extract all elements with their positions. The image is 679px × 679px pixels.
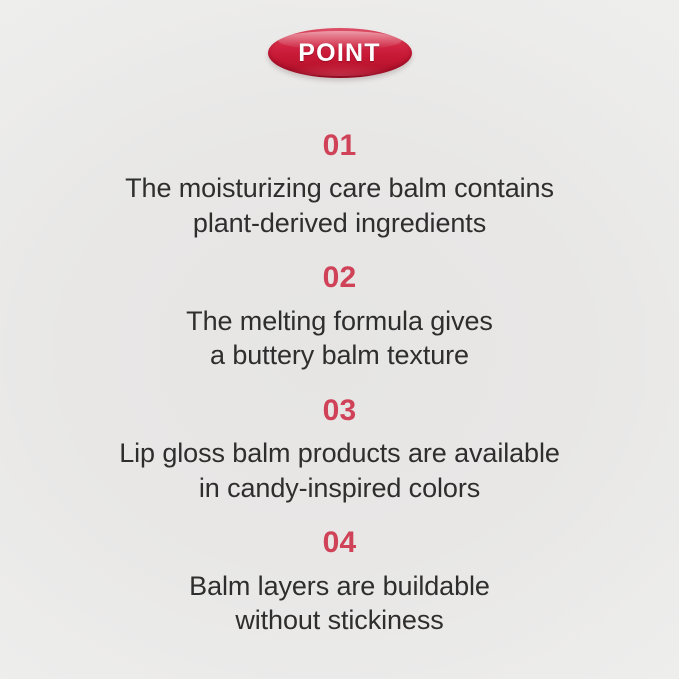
point-badge-container: POINT	[268, 27, 412, 79]
point-badge-label: POINT	[298, 41, 380, 66]
point-number-04: 04	[323, 527, 357, 559]
point-item-04: 04 Balm layers are buildable without sti…	[0, 527, 679, 637]
point-badge: POINT	[268, 28, 412, 78]
point-item-03: 03 Lip gloss balm products are available…	[0, 395, 679, 505]
point-text-02: The melting formula gives a buttery balm…	[186, 304, 493, 373]
point-number-02: 02	[323, 262, 357, 294]
point-text-line-1: Lip gloss balm products are available	[119, 436, 560, 471]
point-text-line-1: Balm layers are buildable	[189, 569, 490, 604]
point-text-line-2: a buttery balm texture	[186, 338, 493, 373]
point-text-line-2: in candy-inspired colors	[119, 471, 560, 506]
point-text-04: Balm layers are buildable without sticki…	[189, 569, 490, 638]
point-text-line-1: The melting formula gives	[186, 304, 493, 339]
points-list: 01 The moisturizing care balm contains p…	[0, 130, 679, 638]
point-item-02: 02 The melting formula gives a buttery b…	[0, 262, 679, 372]
point-number-01: 01	[323, 130, 357, 162]
point-item-01: 01 The moisturizing care balm contains p…	[0, 130, 679, 240]
point-text-line-1: The moisturizing care balm contains	[125, 171, 554, 206]
point-text-01: The moisturizing care balm contains plan…	[125, 171, 554, 240]
point-text-line-2: without stickiness	[189, 603, 490, 638]
point-text-03: Lip gloss balm products are available in…	[119, 436, 560, 505]
product-feature-poster: POINT 01 The moisturizing care balm cont…	[0, 0, 679, 679]
point-number-03: 03	[323, 395, 357, 427]
point-text-line-2: plant-derived ingredients	[125, 206, 554, 241]
